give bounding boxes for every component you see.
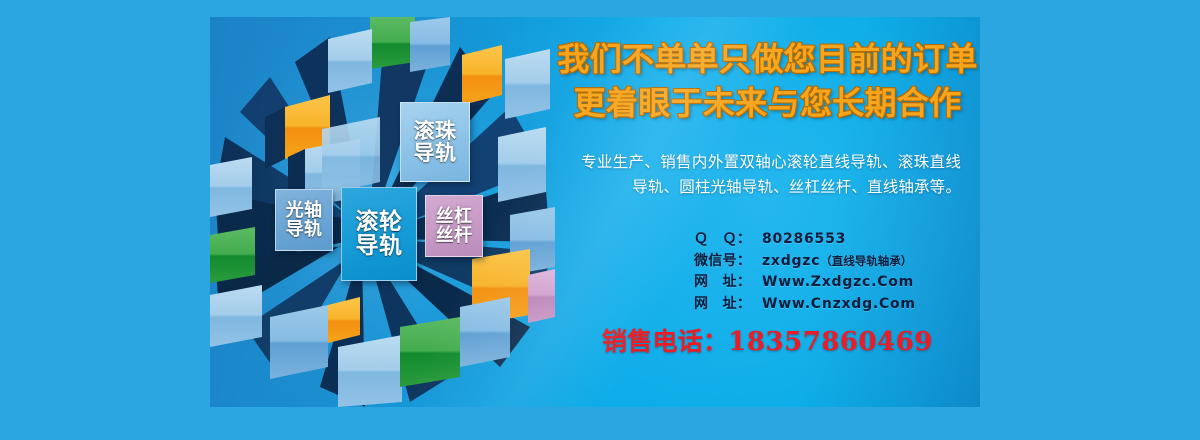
headline: 我们不单单只做您目前的订单 更着眼于未来与您长期合作	[555, 39, 980, 124]
cube-artwork: 滚珠 导轨 光轴 导轨 滚轮 导轨 丝杠 丝杆	[210, 17, 555, 407]
contact-row-wechat[interactable]: 微信号： zxdgzc （直线导轨轴承）	[694, 251, 974, 272]
sales-phone-label: 销售电话：	[602, 327, 728, 356]
product-blurb: 专业生产、销售内外置双轴心滚轮直线导轨、滚珠直线导轨、圆柱光轴导轨、丝杠丝杆、直…	[581, 150, 961, 200]
page-root: 滚珠 导轨 光轴 导轨 滚轮 导轨 丝杠 丝杆	[0, 0, 1200, 440]
contact-value-wechat[interactable]: zxdgzc	[762, 251, 820, 272]
chip-guangzhou-line1: 光轴	[286, 201, 323, 220]
label-chip-guangzhou-daogui[interactable]: 光轴 导轨	[275, 189, 333, 251]
chip-sigang-line1: 丝杠	[436, 207, 473, 226]
banner-copy: 我们不单单只做您目前的订单 更着眼于未来与您长期合作 专业生产、销售内外置双轴心…	[555, 17, 980, 407]
sales-phone-number[interactable]: 18357860469	[728, 327, 933, 357]
contact-label-wechat: 微信号：	[694, 251, 762, 272]
contact-label-website-1: 网 址：	[694, 272, 762, 293]
contact-label-website-2: 网 址：	[694, 294, 762, 315]
sales-phone[interactable]: 销售电话：18357860469	[555, 322, 980, 358]
headline-line-2: 更着眼于未来与您长期合作	[555, 83, 980, 125]
contact-row-website-1[interactable]: 网 址： Www.Zxdgzc.Com	[694, 272, 974, 293]
chip-gunlun-line2: 导轨	[356, 234, 403, 258]
promo-banner: 滚珠 导轨 光轴 导轨 滚轮 导轨 丝杠 丝杆	[210, 17, 980, 407]
contact-value-website-1[interactable]: Www.Zxdgzc.Com	[762, 272, 914, 293]
chip-gunzhu-line1: 滚珠	[414, 120, 457, 142]
contact-list: Ｑ Ｑ： 80286553 微信号： zxdgzc （直线导轨轴承） 网 址： …	[694, 229, 974, 316]
headline-line-1: 我们不单单只做您目前的订单	[555, 39, 980, 81]
contact-value-website-2[interactable]: Www.Cnzxdg.Com	[762, 294, 916, 315]
contact-row-qq[interactable]: Ｑ Ｑ： 80286553	[694, 229, 974, 250]
contact-note-wechat: （直线导轨轴承）	[820, 253, 912, 270]
chip-gunlun-line1: 滚轮	[356, 210, 403, 234]
chip-guangzhou-line2: 导轨	[286, 220, 323, 239]
label-chip-sigang-sigan[interactable]: 丝杠 丝杆	[425, 195, 483, 257]
contact-label-qq: Ｑ Ｑ：	[694, 229, 762, 250]
chip-gunzhu-line2: 导轨	[414, 142, 457, 164]
contact-row-website-2[interactable]: 网 址： Www.Cnzxdg.Com	[694, 294, 974, 315]
contact-value-qq[interactable]: 80286553	[762, 229, 846, 250]
label-chip-gunlun-daogui[interactable]: 滚轮 导轨	[341, 187, 417, 281]
chip-sigang-line2: 丝杆	[436, 226, 473, 245]
label-chip-gunzhu-daogui[interactable]: 滚珠 导轨	[400, 102, 470, 182]
